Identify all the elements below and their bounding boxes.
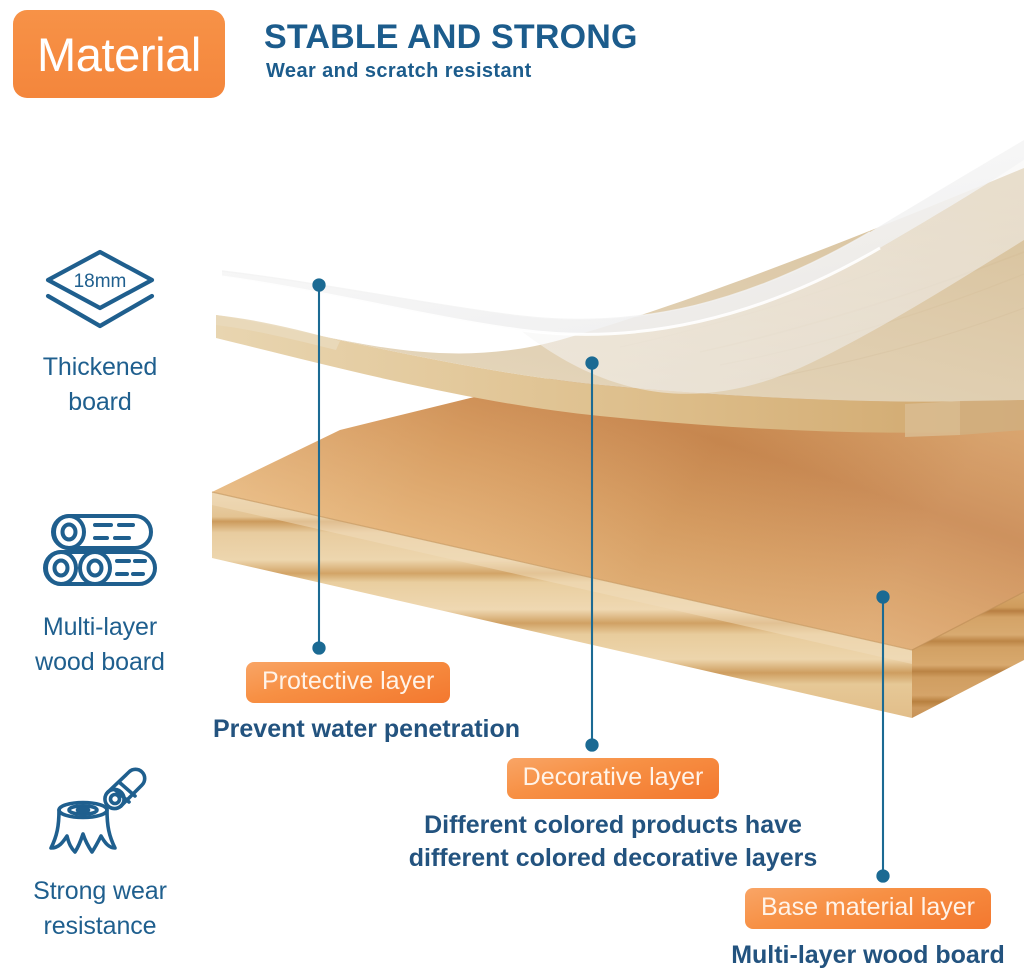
callout-base-material-layer: Base material layer Multi-layer wood boa… <box>712 888 1024 972</box>
leader-dot-decorative-top <box>586 357 597 368</box>
material-badge-label: Material <box>37 31 201 78</box>
feature-label-line2: wood board <box>0 645 200 680</box>
feature-label-line2: board <box>0 385 200 420</box>
feature-label-line1: Multi-layer <box>0 610 200 645</box>
leader-dot-base-bottom <box>877 870 888 881</box>
header: Material STABLE AND STRONG Wear and scra… <box>0 0 1024 120</box>
callout-badge: Decorative layer <box>507 758 720 799</box>
callout-badge: Base material layer <box>745 888 991 929</box>
callout-protective-layer: Protective layer Prevent water penetrati… <box>213 662 520 746</box>
feature-label: Strong wear resistance <box>0 874 200 943</box>
feature-multi-layer-wood-board: Multi-layer wood board <box>0 498 200 679</box>
callout-description-line2: different colored decorative layers <box>403 842 823 875</box>
tree-stump-log-icon <box>0 762 200 866</box>
feature-label: Multi-layer wood board <box>0 610 200 679</box>
feature-strong-wear-resistance: Strong wear resistance <box>0 762 200 943</box>
layered-diamond-icon: 18mm <box>0 238 200 342</box>
feature-label: Thickened board <box>0 350 200 419</box>
callout-description: Multi-layer wood board <box>712 939 1024 972</box>
header-subtitle: Wear and scratch resistant <box>266 60 532 83</box>
leader-dot-decorative-bottom <box>586 739 597 750</box>
callout-description: Different colored products have differen… <box>403 809 823 874</box>
feature-thickened-board: 18mm Thickened board <box>0 238 200 419</box>
material-badge: Material <box>13 10 225 98</box>
thickness-value: 18mm <box>74 271 127 292</box>
feature-label-line1: Strong wear <box>0 874 200 909</box>
callout-description: Prevent water penetration <box>213 713 520 746</box>
leader-dot-base-top <box>877 591 888 602</box>
feature-label-line2: resistance <box>0 909 200 944</box>
base-board-layer <box>212 262 1024 718</box>
callout-description-line1: Different colored products have <box>403 809 823 842</box>
callout-badge: Protective layer <box>246 662 450 703</box>
leader-dot-protective-top <box>313 279 324 290</box>
header-title: STABLE AND STRONG <box>264 18 638 57</box>
decorative-veneer-layer <box>216 168 1024 437</box>
stacked-logs-icon <box>0 498 200 602</box>
protective-film-layer <box>222 140 1024 394</box>
feature-label-line1: Thickened <box>0 350 200 385</box>
callout-decorative-layer: Decorative layer Different colored produ… <box>403 758 823 874</box>
leader-dot-protective-bottom <box>313 642 324 653</box>
